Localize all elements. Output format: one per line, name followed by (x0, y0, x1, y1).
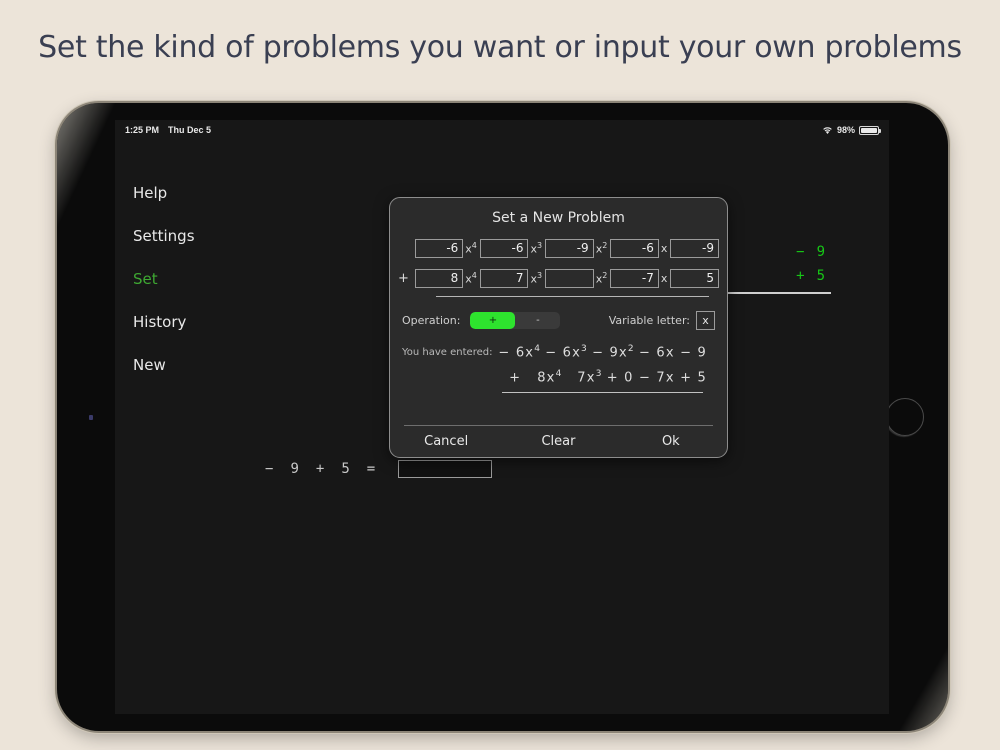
sidebar-menu: Help Settings Set History New (133, 176, 253, 391)
entered-expression-line1: − 6x4 − 6x3 − 9x2 − 6x − 9 (492, 344, 715, 360)
variable-letter-label: Variable letter: (609, 314, 690, 327)
status-time: 1:25 PM (125, 125, 159, 135)
answer-equals: = (367, 461, 375, 477)
term-input-r1-x2[interactable]: -9 (545, 239, 594, 258)
variable-letter-input[interactable]: x (696, 311, 715, 330)
term-input-r1-const[interactable]: -9 (670, 239, 719, 258)
background-problem-rule (711, 292, 831, 294)
battery-icon (859, 126, 879, 135)
background-value: 5 (817, 268, 825, 284)
term-input-rows: -6 x4 -6 x3 -9 x2 -6 x -9 + 8 x4 7 x3 (390, 236, 727, 297)
operation-option-plus[interactable]: + (470, 312, 515, 329)
entered-divider (502, 392, 703, 393)
entered-label: You have entered: (402, 344, 492, 358)
term-label-r2-x3: x3 (530, 271, 542, 286)
page-title: Set the kind of problems you want or inp… (0, 30, 1000, 65)
sidebar-item-set[interactable]: Set (133, 262, 253, 296)
tablet-device: 1:25 PM Thu Dec 5 98% Help Settings Set (57, 103, 948, 731)
term-label-r2-x2: x2 (596, 271, 608, 286)
term-input-r2-x2[interactable] (545, 269, 594, 288)
wifi-icon (822, 126, 833, 135)
dialog-footer: Cancel Clear Ok (390, 425, 727, 457)
term-input-r1-x4[interactable]: -6 (415, 239, 464, 258)
term-input-r2-x3[interactable]: 7 (480, 269, 529, 288)
term-row-1: -6 x4 -6 x3 -9 x2 -6 x -9 (398, 236, 719, 260)
term-label-r1-x3: x3 (530, 241, 542, 256)
sidebar-item-help[interactable]: Help (133, 176, 253, 210)
term-label-r1-x1: x (661, 242, 668, 255)
ok-button[interactable]: Ok (615, 426, 727, 457)
term-label-r1-x4: x4 (465, 241, 477, 256)
term-input-r2-const[interactable]: 5 (670, 269, 719, 288)
operation-option-minus[interactable]: - (515, 312, 560, 329)
answer-input[interactable] (398, 460, 492, 478)
entered-preview: You have entered: − 6x4 − 6x3 − 9x2 − 6x… (390, 344, 727, 393)
status-date: Thu Dec 5 (168, 125, 211, 135)
answer-row: − 9 + 5 = (265, 460, 492, 478)
sidebar-item-new[interactable]: New (133, 348, 253, 382)
clear-button[interactable]: Clear (502, 426, 614, 457)
home-button[interactable] (886, 398, 924, 436)
operation-label: Operation: (402, 314, 460, 327)
entered-expression-line2: + 8x4 7x3 + 0 − 7x + 5 (402, 369, 715, 385)
term-label-r2-x4: x4 (465, 271, 477, 286)
background-value: 9 (817, 244, 825, 260)
terms-divider (436, 296, 709, 297)
answer-sign-2: + (316, 461, 324, 477)
background-sign: − (796, 244, 804, 260)
answer-sign-1: − (265, 461, 273, 477)
term-input-r1-x1[interactable]: -6 (610, 239, 659, 258)
cancel-button[interactable]: Cancel (390, 426, 502, 457)
answer-term-1: 9 (290, 461, 298, 477)
term-row-2-leading-op: + (398, 271, 413, 286)
operation-segmented-control[interactable]: + - (470, 312, 560, 329)
sidebar-item-history[interactable]: History (133, 305, 253, 339)
operation-row: Operation: + - Variable letter: x (390, 310, 727, 330)
term-label-r1-x2: x2 (596, 241, 608, 256)
sidebar-item-settings[interactable]: Settings (133, 219, 253, 253)
status-bar: 1:25 PM Thu Dec 5 98% (115, 120, 889, 140)
battery-percent: 98% (837, 125, 855, 135)
term-input-r2-x1[interactable]: -7 (610, 269, 659, 288)
set-new-problem-dialog: Set a New Problem -6 x4 -6 x3 -9 x2 -6 x… (389, 197, 728, 458)
background-sign: + (796, 268, 804, 284)
term-input-r1-x3[interactable]: -6 (480, 239, 529, 258)
term-row-2: + 8 x4 7 x3 x2 -7 x 5 (398, 266, 719, 290)
tablet-screen: 1:25 PM Thu Dec 5 98% Help Settings Set (115, 120, 889, 714)
device-side-indicator (89, 415, 93, 420)
dialog-title: Set a New Problem (390, 210, 727, 226)
term-label-r2-x1: x (661, 272, 668, 285)
answer-term-2: 5 (341, 461, 349, 477)
term-input-r2-x4[interactable]: 8 (415, 269, 464, 288)
